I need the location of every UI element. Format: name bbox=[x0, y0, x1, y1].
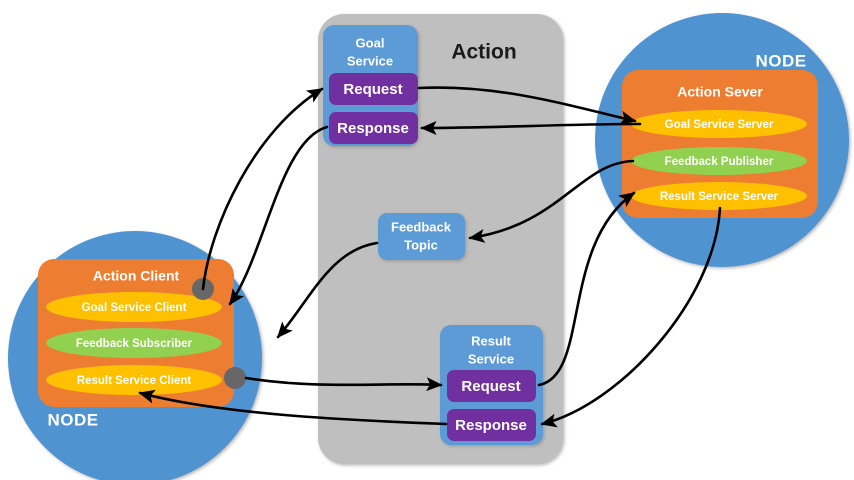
feedback-topic-box[interactable]: Feedback Topic bbox=[378, 213, 465, 260]
feedback-subscriber-pill[interactable]: Feedback Subscriber bbox=[46, 328, 222, 358]
goal-request-label: Request bbox=[343, 81, 402, 98]
result-service-server-label: Result Service Server bbox=[660, 191, 779, 203]
feedback-subscriber-label: Feedback Subscriber bbox=[76, 338, 193, 350]
action-client-node[interactable]: NODE Action Client Goal Service Client F… bbox=[8, 231, 262, 480]
result-response-message[interactable]: Response bbox=[447, 409, 536, 441]
edge-goal-response-to-goal-client bbox=[230, 127, 327, 304]
edge-goal-client-to-goal-request bbox=[203, 89, 322, 289]
action-client-label: Action Client bbox=[93, 268, 180, 284]
result-service-client-connector-dot bbox=[224, 367, 246, 389]
result-service-client-label: Result Service Client bbox=[77, 375, 192, 387]
goal-request-message[interactable]: Request bbox=[329, 73, 418, 105]
result-service-server-pill[interactable]: Result Service Server bbox=[631, 182, 807, 210]
feedback-publisher-pill[interactable]: Feedback Publisher bbox=[631, 147, 807, 175]
goal-service-title-line1: Goal bbox=[356, 35, 385, 50]
result-service-title-line2: Service bbox=[468, 351, 514, 366]
goal-response-label: Response bbox=[337, 120, 409, 137]
feedback-topic-title-line1: Feedback bbox=[391, 219, 452, 234]
result-service-box[interactable]: Result Service Request Response bbox=[440, 325, 543, 445]
goal-service-box[interactable]: Goal Service Request Response bbox=[323, 25, 418, 146]
diagram-canvas: Action NODE Action Client Goal Service C… bbox=[0, 0, 854, 480]
action-panel-title: Action bbox=[451, 41, 516, 64]
goal-service-title-line2: Service bbox=[347, 53, 393, 68]
result-request-message[interactable]: Request bbox=[447, 370, 536, 402]
goal-response-message[interactable]: Response bbox=[329, 112, 418, 144]
client-node-label: NODE bbox=[47, 410, 98, 429]
server-node-label: NODE bbox=[755, 51, 806, 70]
goal-service-server-label: Goal Service Server bbox=[665, 119, 774, 131]
action-server-node[interactable]: NODE Action Sever Goal Service Server Fe… bbox=[595, 13, 849, 267]
action-architecture-diagram: Action NODE Action Client Goal Service C… bbox=[0, 0, 854, 480]
feedback-publisher-label: Feedback Publisher bbox=[665, 156, 774, 168]
result-response-label: Response bbox=[455, 417, 527, 434]
goal-service-server-pill[interactable]: Goal Service Server bbox=[631, 110, 807, 138]
result-service-title-line1: Result bbox=[471, 333, 511, 348]
result-service-client-pill[interactable]: Result Service Client bbox=[46, 365, 222, 395]
result-request-label: Request bbox=[461, 378, 520, 395]
feedback-topic-title-line2: Topic bbox=[404, 237, 438, 252]
action-server-label: Action Sever bbox=[677, 84, 763, 100]
goal-service-client-label: Goal Service Client bbox=[82, 302, 187, 314]
